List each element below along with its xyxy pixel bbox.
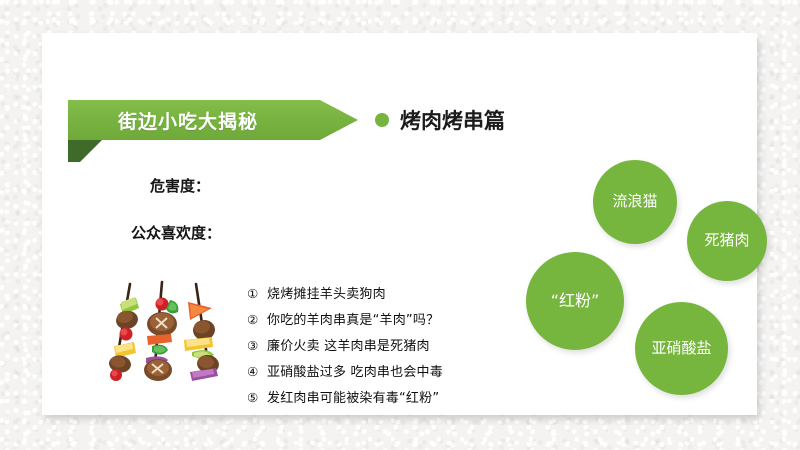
bubble-dead-pig-meat[interactable]: 死猪肉 [687,201,767,281]
banner-title: 街边小吃大揭秘 [118,107,258,134]
numbered-list: ①烧烤摊挂羊头卖狗肉②你吃的羊肉串真是“羊肉”吗？③廉价火卖 这羊肉串是死猪肉④… [247,283,443,413]
bubble-label: “红粉” [551,291,600,311]
list-item: ⑤发红肉串可能被染有毒“红粉” [247,387,443,406]
list-item-number: ① [247,286,267,301]
bubble-label: 死猪肉 [704,231,749,250]
list-item-text: 烧烤摊挂羊头卖狗肉 [267,283,386,302]
slide-card: 街边小吃大揭秘 烤肉烤串篇 危害度： 公众喜欢度： [42,33,757,415]
bubble-label: 流浪猫 [612,192,657,211]
list-item-text: 廉价火卖 这羊肉串是死猪肉 [267,335,430,354]
list-item: ②你吃的羊肉串真是“羊肉”吗？ [247,309,443,328]
list-item-text: 亚硝酸盐过多 吃肉串也会中毒 [267,361,443,380]
list-item-text: 你吃的羊肉串真是“羊肉”吗？ [267,309,439,328]
list-item-number: ③ [247,338,267,353]
bubble-nitrite[interactable]: 亚硝酸盐 [635,302,728,395]
list-item-number: ⑤ [247,390,267,405]
subtitle-row: 烤肉烤串篇 [375,105,505,135]
dot-icon [375,113,389,127]
list-item: ①烧烤摊挂羊头卖狗肉 [247,283,443,302]
subtitle-text: 烤肉烤串篇 [400,105,505,135]
banner-shape: 街边小吃大揭秘 [68,100,358,140]
list-item-number: ② [247,312,267,327]
list-item: ④亚硝酸盐过多 吃肉串也会中毒 [247,361,443,380]
banner-fold-shadow [68,140,102,162]
list-item: ③廉价火卖 这羊肉串是死猪肉 [247,335,443,354]
title-banner: 街边小吃大揭秘 [68,100,358,140]
metric-row-preference: 公众喜欢度： [131,222,282,243]
bubble-label: 亚硝酸盐 [651,339,711,358]
metric-row-harm: 危害度： [150,175,257,196]
bubble-stray-cat[interactable]: 流浪猫 [593,160,677,244]
bbq-skewers-illustration [100,276,240,381]
bubble-red-powder[interactable]: “红粉” [526,252,624,350]
list-item-number: ④ [247,364,267,379]
metric-label-harm: 危害度： [150,175,210,196]
metric-label-preference: 公众喜欢度： [131,222,221,243]
list-item-text: 发红肉串可能被染有毒“红粉” [267,387,439,406]
